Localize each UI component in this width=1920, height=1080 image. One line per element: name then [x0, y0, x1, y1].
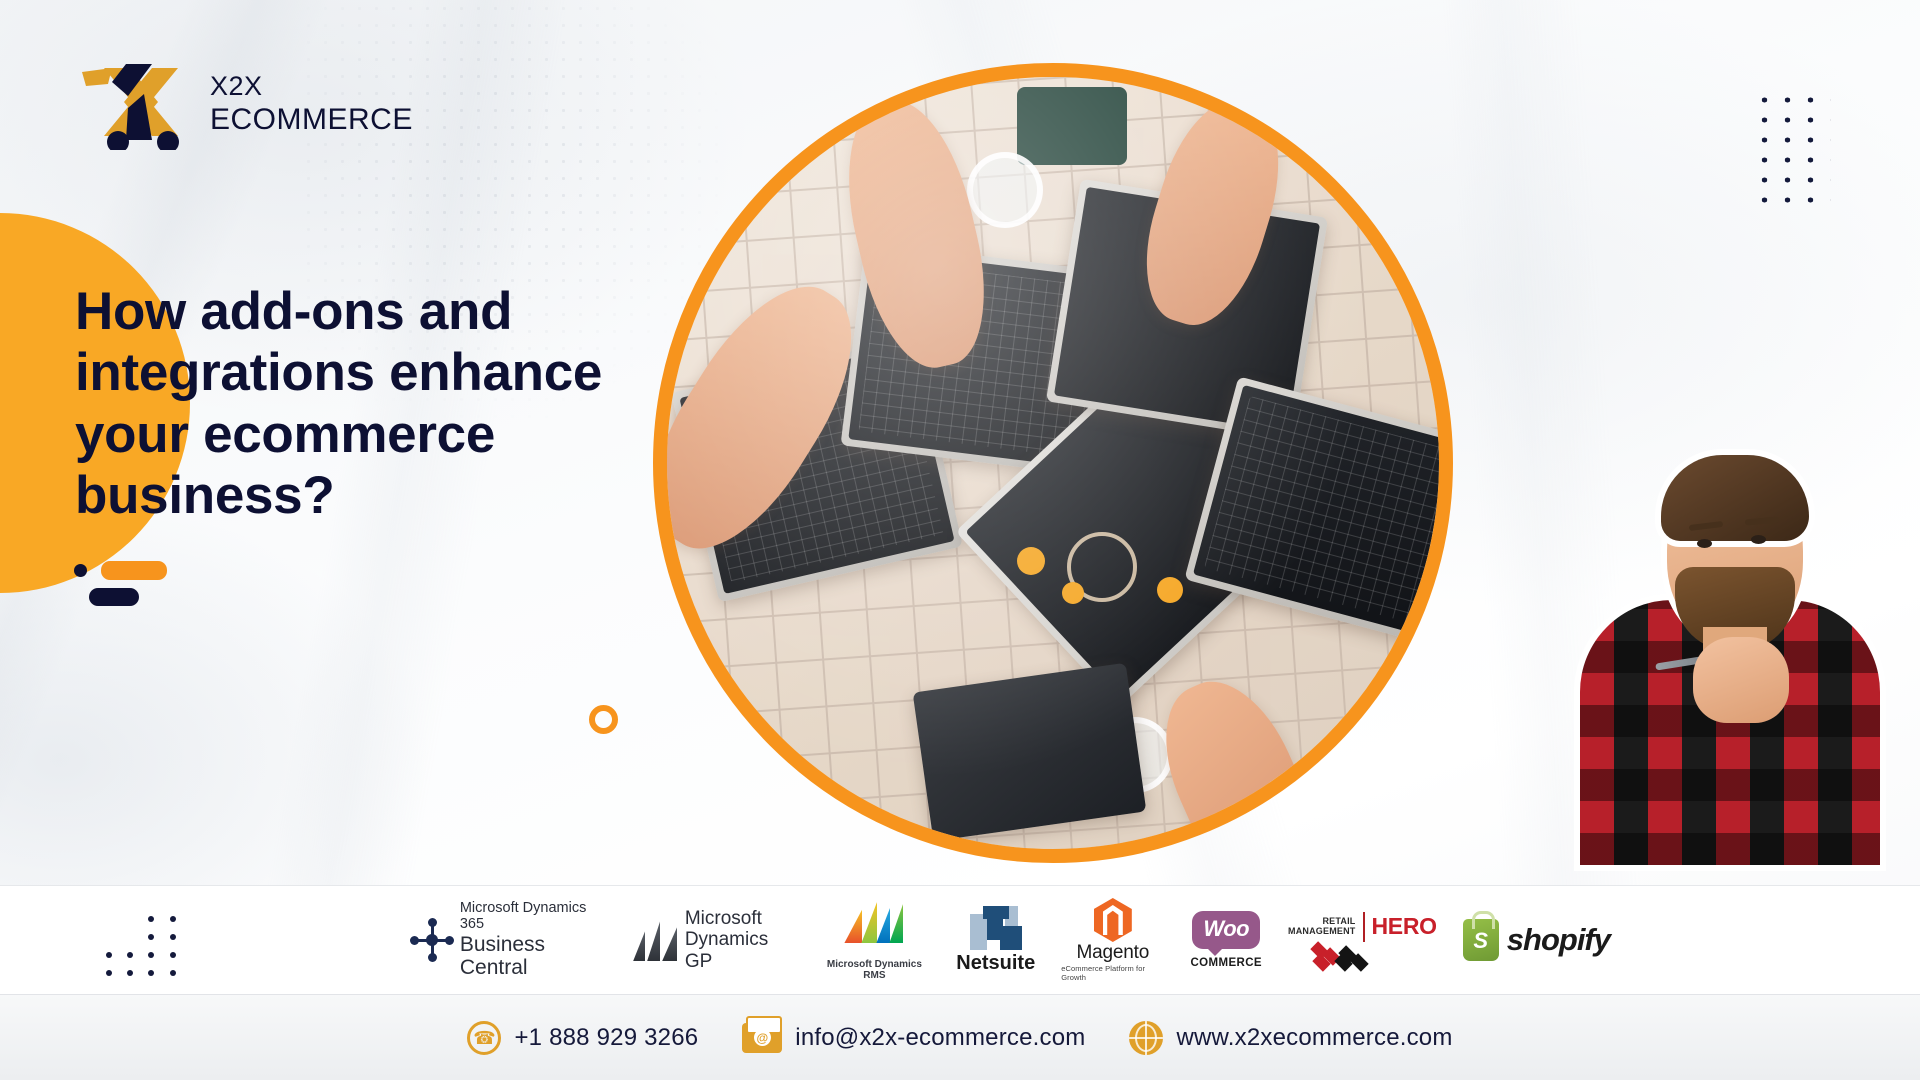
hand [1693, 637, 1789, 723]
contact-website[interactable]: www.x2xecommerce.com [1129, 1021, 1452, 1055]
hero-orange-ring [653, 63, 1453, 863]
partner-label-bottom: Dynamics GP [685, 929, 793, 972]
headline: How add-ons and integrations enhance you… [75, 281, 655, 527]
partner-label: Magento [1077, 942, 1150, 964]
eye [1697, 539, 1712, 548]
headline-line-2: integrations enhance [75, 342, 655, 403]
netsuite-n-icon [970, 906, 1022, 950]
dash-accent-dot [74, 564, 87, 577]
contact-website-value: www.x2xecommerce.com [1176, 1024, 1452, 1052]
dynamics-rms-fin-icon [844, 899, 904, 947]
partner-logo-woocommerce[interactable]: Woo COMMERCE [1190, 911, 1262, 969]
magento-hex-icon [1094, 898, 1132, 942]
partner-logo-dynamics-rms[interactable]: Microsoft Dynamics RMS [819, 899, 931, 981]
eye [1751, 535, 1766, 544]
envelope-icon: @ [742, 1023, 782, 1053]
partner-logo-dynamics-365-business-central[interactable]: Microsoft Dynamics 365 Business Central [410, 900, 607, 980]
partner-label-hero: HERO [1372, 913, 1437, 940]
partner-logo-magento[interactable]: Magento eCommerce Platform for Growth [1061, 898, 1164, 982]
dot-grid-bottom-left [106, 916, 188, 976]
partner-label-top: Microsoft [685, 908, 793, 929]
microsoft-fin-icon [633, 919, 676, 961]
x2x-cart-logo-icon [78, 58, 196, 150]
rmh-divider [1363, 912, 1365, 942]
partner-label: Netsuite [956, 952, 1035, 975]
contact-email-value: info@x2x-ecommerce.com [795, 1024, 1085, 1052]
hair [1661, 455, 1809, 541]
rmh-diamond-icon [1310, 943, 1402, 969]
shopify-bag-icon [1463, 919, 1499, 961]
partner-label-top: Microsoft Dynamics 365 [460, 900, 607, 932]
partner-label: COMMERCE [1190, 957, 1262, 969]
dot-grid-top-right [1751, 88, 1831, 210]
dynamics-365-network-icon [410, 918, 451, 962]
partner-label-bottom: Business Central [460, 933, 607, 980]
marketing-banner: X2X ECOMMERCE How add-ons and integratio… [0, 0, 1920, 1080]
brand-logo[interactable]: X2X ECOMMERCE [78, 58, 413, 150]
partner-label: Microsoft Dynamics RMS [819, 959, 931, 981]
phone-icon: ☎ [467, 1021, 501, 1055]
headline-line-3: your ecommerce [75, 404, 655, 465]
person-cutout [1575, 455, 1885, 865]
partner-logo-retail-management-hero[interactable]: RETAIL MANAGEMENT HERO [1288, 912, 1437, 969]
headline-line-4: business? [75, 465, 655, 526]
partner-tagline: eCommerce Platform for Growth [1061, 964, 1164, 982]
orange-ring-decoration [589, 705, 618, 734]
partner-logo-dynamics-gp[interactable]: Microsoft Dynamics GP [633, 908, 792, 972]
contact-phone-value: +1 888 929 3266 [514, 1024, 698, 1052]
partner-logo-shopify[interactable]: shopify [1463, 919, 1610, 961]
partner-label: shopify [1507, 922, 1610, 958]
headline-line-1: How add-ons and [75, 281, 655, 342]
dash-accent-navy-bar [89, 588, 139, 606]
logo-text-line2: ECOMMERCE [210, 105, 413, 135]
partner-label-b: MANAGEMENT [1288, 927, 1356, 936]
contact-email[interactable]: @ info@x2x-ecommerce.com [742, 1023, 1085, 1053]
partner-logo-netsuite[interactable]: Netsuite [956, 906, 1035, 975]
logo-text-line1: X2X [210, 73, 413, 100]
woo-badge-icon: Woo [1192, 911, 1260, 949]
globe-icon [1129, 1021, 1163, 1055]
dash-accent-decoration [74, 555, 184, 601]
partner-logos: Microsoft Dynamics 365 Business Central … [410, 885, 1610, 995]
contact-phone[interactable]: ☎ +1 888 929 3266 [467, 1021, 698, 1055]
hero-circle-image [653, 63, 1453, 863]
dash-accent-orange-bar [101, 561, 167, 580]
contact-bar: ☎ +1 888 929 3266 @ info@x2x-ecommerce.c… [0, 995, 1920, 1080]
